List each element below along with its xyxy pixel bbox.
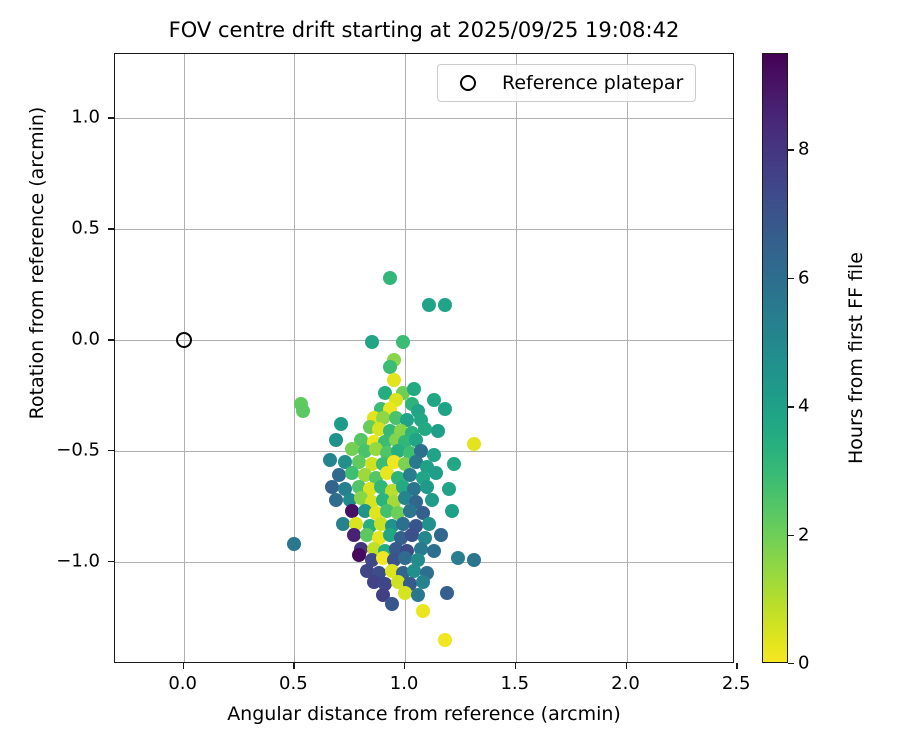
scatter-point bbox=[416, 575, 430, 589]
scatter-point bbox=[345, 466, 359, 480]
plot-area bbox=[114, 53, 734, 663]
x-tick bbox=[515, 663, 516, 669]
y-tick-label: 0.0 bbox=[4, 329, 100, 350]
colorbar-tick-label: 8 bbox=[798, 139, 809, 160]
colorbar-tick-label: 6 bbox=[798, 267, 809, 288]
y-axis-label: Rotation from reference (arcmin) bbox=[26, 0, 48, 568]
scatter-point bbox=[434, 528, 448, 542]
scatter-point bbox=[385, 597, 399, 611]
reference-platepar-marker bbox=[176, 332, 192, 348]
scatter-point bbox=[467, 553, 481, 567]
x-tick bbox=[183, 663, 184, 669]
chart-title: FOV centre drift starting at 2025/09/25 … bbox=[114, 18, 734, 42]
colorbar bbox=[762, 53, 788, 663]
scatter-point bbox=[467, 437, 481, 451]
scatter-point bbox=[442, 482, 456, 496]
scatter-point bbox=[398, 586, 412, 600]
scatter-point bbox=[429, 466, 443, 480]
scatter-point bbox=[438, 402, 452, 416]
scatter-point bbox=[383, 360, 397, 374]
x-tick-label: 2.5 bbox=[722, 673, 751, 694]
scatter-point bbox=[438, 298, 452, 312]
x-tick bbox=[293, 663, 294, 669]
y-tick bbox=[108, 450, 114, 451]
x-tick-label: 0.5 bbox=[279, 673, 308, 694]
y-tick-label: −0.5 bbox=[4, 440, 100, 461]
colorbar-tick bbox=[788, 663, 794, 664]
scatter-point bbox=[296, 404, 310, 418]
y-tick bbox=[108, 117, 114, 118]
y-tick bbox=[108, 339, 114, 340]
scatter-point bbox=[405, 528, 419, 542]
scatter-point bbox=[336, 517, 350, 531]
legend: Reference platepar bbox=[437, 64, 696, 102]
scatter-point bbox=[329, 433, 343, 447]
scatter-point bbox=[422, 517, 436, 531]
colorbar-tick-label: 2 bbox=[798, 524, 809, 545]
colorbar-tick-label: 0 bbox=[798, 653, 809, 674]
scatter-point bbox=[447, 457, 461, 471]
scatter-point bbox=[445, 504, 459, 518]
y-tick bbox=[108, 561, 114, 562]
scatter-point bbox=[416, 604, 430, 618]
y-tick bbox=[108, 228, 114, 229]
y-gridline bbox=[115, 118, 733, 119]
x-tick bbox=[404, 663, 405, 669]
scatter-point bbox=[422, 298, 436, 312]
y-gridline bbox=[115, 229, 733, 230]
y-tick-label: −1.0 bbox=[4, 550, 100, 571]
x-tick-label: 2.0 bbox=[611, 673, 640, 694]
y-gridline bbox=[115, 340, 733, 341]
scatter-point bbox=[425, 493, 439, 507]
scatter-point bbox=[345, 442, 359, 456]
scatter-point bbox=[431, 424, 445, 438]
scatter-point bbox=[347, 528, 361, 542]
scatter-point bbox=[420, 480, 434, 494]
colorbar-tick bbox=[788, 406, 794, 407]
scatter-point bbox=[411, 588, 425, 602]
x-tick-label: 1.5 bbox=[500, 673, 529, 694]
scatter-point bbox=[365, 335, 379, 349]
scatter-point bbox=[407, 382, 421, 396]
scatter-point bbox=[383, 271, 397, 285]
scatter-point bbox=[287, 537, 301, 551]
x-tick bbox=[626, 663, 627, 669]
colorbar-tick-label: 4 bbox=[798, 396, 809, 417]
scatter-point bbox=[323, 453, 337, 467]
x-axis-label: Angular distance from reference (arcmin) bbox=[114, 703, 734, 725]
scatter-point bbox=[403, 504, 417, 518]
figure: FOV centre drift starting at 2025/09/25 … bbox=[0, 0, 900, 750]
x-tick-label: 0.0 bbox=[168, 673, 197, 694]
colorbar-label: Hours from first FF file bbox=[845, 53, 867, 663]
y-tick-label: 1.0 bbox=[4, 107, 100, 128]
x-gridline bbox=[627, 54, 628, 662]
legend-reference-marker-icon bbox=[460, 75, 476, 91]
scatter-point bbox=[427, 544, 441, 558]
x-tick bbox=[736, 663, 737, 669]
x-gridline bbox=[294, 54, 295, 662]
scatter-point bbox=[396, 335, 410, 349]
scatter-point bbox=[334, 417, 348, 431]
scatter-point bbox=[451, 551, 465, 565]
scatter-point bbox=[438, 633, 452, 647]
legend-label-reference-platepar: Reference platepar bbox=[502, 72, 683, 94]
scatter-point bbox=[352, 548, 366, 562]
colorbar-tick bbox=[788, 149, 794, 150]
scatter-point bbox=[398, 551, 412, 565]
scatter-point bbox=[329, 493, 343, 507]
scatter-point bbox=[387, 373, 401, 387]
scatter-point bbox=[325, 480, 339, 494]
y-tick-label: 0.5 bbox=[4, 218, 100, 239]
colorbar-tick bbox=[788, 535, 794, 536]
x-tick-label: 1.0 bbox=[390, 673, 419, 694]
x-gridline bbox=[516, 54, 517, 662]
x-gridline bbox=[184, 54, 185, 662]
scatter-point bbox=[440, 586, 454, 600]
colorbar-gradient bbox=[763, 54, 787, 662]
colorbar-tick bbox=[788, 278, 794, 279]
scatter-point bbox=[345, 504, 359, 518]
